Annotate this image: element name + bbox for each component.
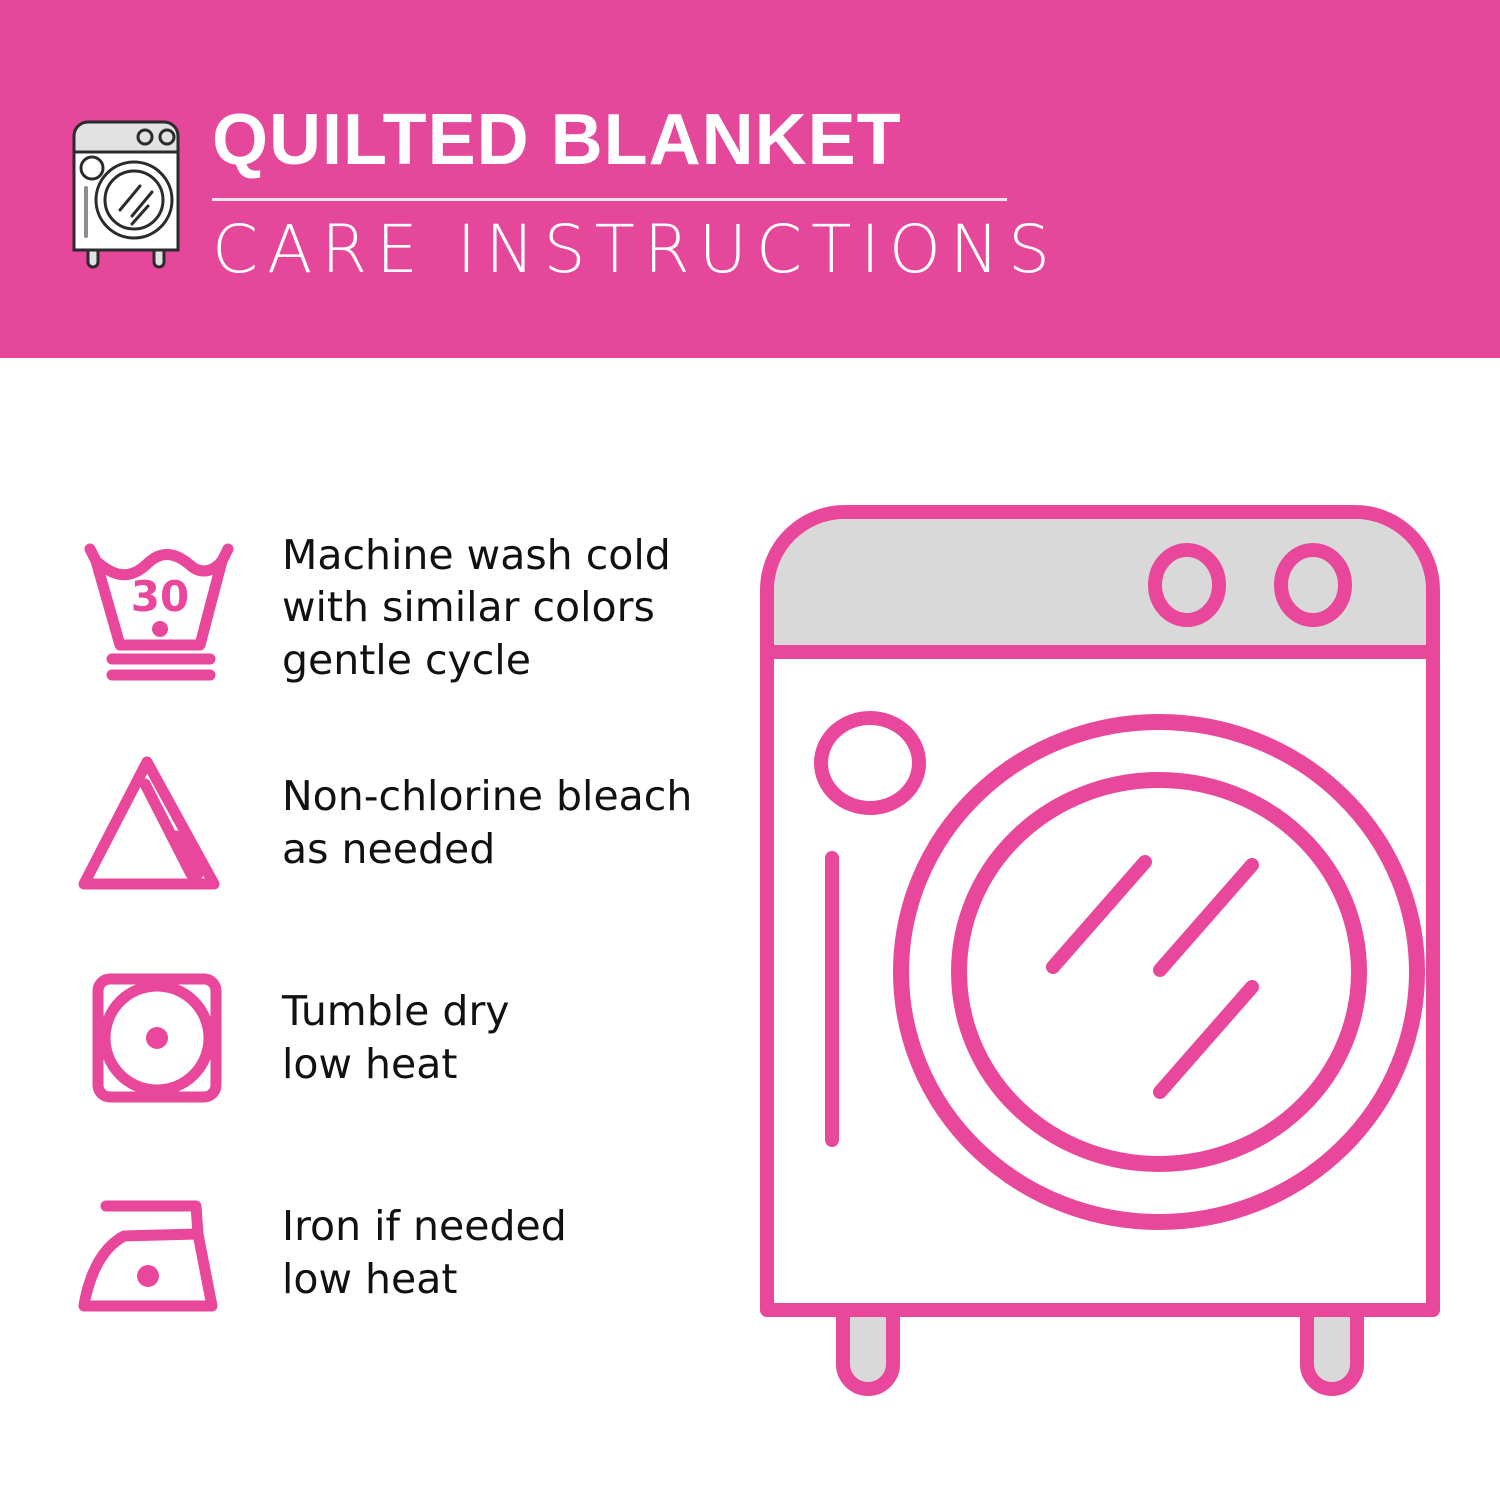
knob-left [1155, 550, 1219, 620]
instruction-text-bleach: Non-chlorine bleach as needed [262, 770, 692, 875]
title-divider [212, 198, 1007, 201]
instruction-text-dry: Tumble dry low heat [262, 985, 510, 1090]
instruction-line: with similar colors [282, 581, 671, 633]
iron-low-heat-icon [62, 1165, 262, 1340]
detergent-dispenser-circle [821, 718, 919, 808]
instruction-line: low heat [282, 1038, 510, 1090]
knob-right [1281, 550, 1345, 620]
list-item: Iron if needed low heat [62, 1145, 722, 1360]
instruction-line: Tumble dry [282, 985, 510, 1037]
wash-temperature-label: 30 [131, 572, 189, 621]
care-instruction-list: 30 Machine wash cold with similar colors… [62, 500, 722, 1360]
instruction-text-wash: Machine wash cold with similar colors ge… [262, 529, 671, 686]
page-subtitle: CARE INSTRUCTIONS [212, 217, 1059, 283]
instruction-line: low heat [282, 1253, 567, 1305]
instruction-line: gentle cycle [282, 634, 671, 686]
foot-right [1307, 1310, 1357, 1389]
list-item: Tumble dry low heat [62, 930, 722, 1145]
header-banner: QUILTED BLANKET CARE INSTRUCTIONS [0, 0, 1500, 358]
washing-machine-icon [62, 110, 190, 270]
tumble-dry-low-icon [62, 950, 262, 1125]
instruction-line: as needed [282, 823, 692, 875]
instruction-text-iron: Iron if needed low heat [262, 1200, 567, 1305]
list-item: 30 Machine wash cold with similar colors… [62, 500, 722, 715]
header-content: QUILTED BLANKET CARE INSTRUCTIONS [62, 100, 1059, 283]
non-chlorine-bleach-triangle-icon [62, 735, 262, 910]
instruction-line: Iron if needed [282, 1200, 567, 1252]
front-load-washing-machine-illustration [735, 480, 1465, 1420]
title-block: QUILTED BLANKET CARE INSTRUCTIONS [212, 100, 1059, 283]
list-item: Non-chlorine bleach as needed [62, 715, 722, 930]
wash-tub-30-gentle-icon: 30 [62, 520, 262, 695]
instruction-line: Machine wash cold [282, 529, 671, 581]
foot-left [843, 1310, 893, 1389]
instruction-line: Non-chlorine bleach [282, 770, 692, 822]
page-title: QUILTED BLANKET [212, 104, 1059, 176]
